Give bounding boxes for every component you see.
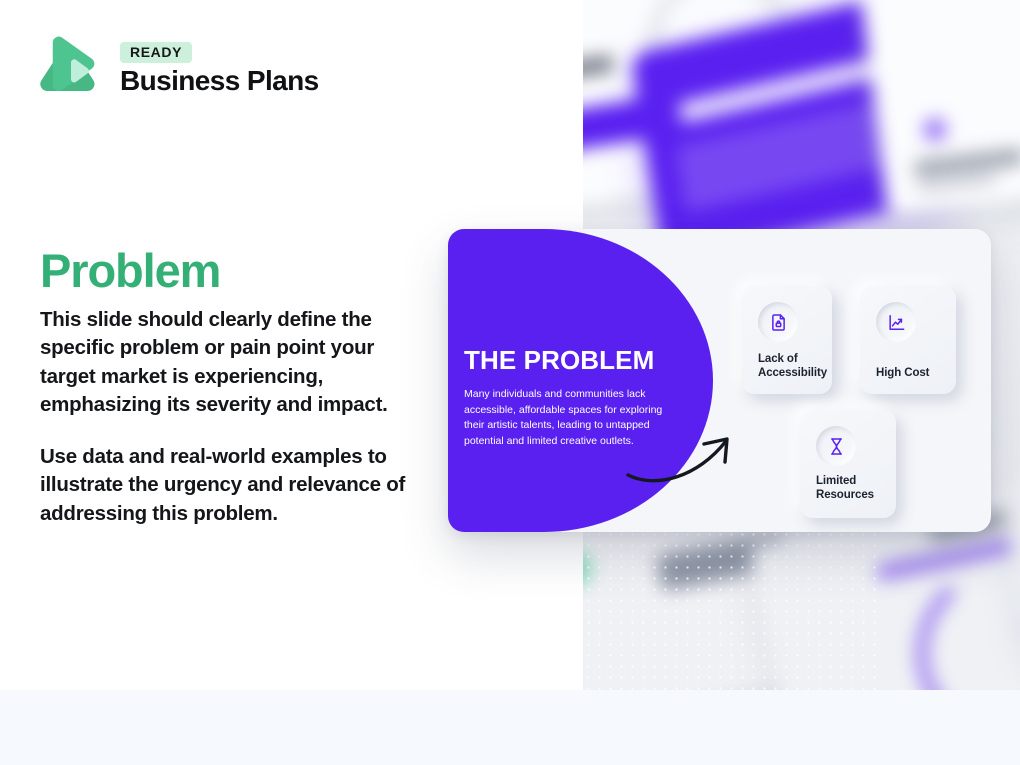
hourglass-glyph <box>827 437 846 456</box>
feature-tile-label: Limited Resources <box>816 474 896 502</box>
feature-tile-accessibility[interactable]: Lack of Accessibility <box>742 286 832 394</box>
brand-name: Business Plans <box>120 66 319 97</box>
brand-text: READY Business Plans <box>120 42 319 97</box>
play-triangle-logo-icon <box>40 36 106 102</box>
bottom-strip <box>0 690 1020 765</box>
brand-logo-block: READY Business Plans <box>40 36 319 102</box>
feature-tile-limited-resources[interactable]: Limited Resources <box>800 410 896 518</box>
feature-tile-label: Lack of Accessibility <box>758 352 832 380</box>
document-lock-glyph <box>769 313 788 332</box>
feature-tile-label: High Cost <box>876 366 929 380</box>
line-chart-glyph <box>887 313 906 332</box>
feature-tile-high-cost[interactable]: High Cost <box>860 286 956 394</box>
paragraph-2: Use data and real-world examples to illu… <box>40 443 420 528</box>
ready-badge: READY <box>120 42 192 63</box>
slide-root: READY Business Plans Problem This slide … <box>0 0 1020 765</box>
blurred-bar <box>583 55 614 90</box>
blurred-dot <box>923 117 948 142</box>
blurred-donut-purple <box>908 557 1020 690</box>
purple-panel-title: THE PROBLEM <box>464 347 686 374</box>
line-chart-icon <box>876 302 916 342</box>
page-title: Problem <box>40 247 220 294</box>
blurred-line-1 <box>914 148 1020 177</box>
curved-arrow-icon <box>626 417 746 487</box>
blurred-slide-top-right <box>860 0 1020 215</box>
blurred-line-2 <box>916 174 997 194</box>
body-copy: This slide should clearly define the spe… <box>40 306 420 528</box>
document-lock-icon <box>758 302 798 342</box>
hero-card: THE PROBLEM Many individuals and communi… <box>448 229 991 532</box>
hourglass-icon <box>816 426 856 466</box>
paragraph-1: This slide should clearly define the spe… <box>40 306 420 419</box>
